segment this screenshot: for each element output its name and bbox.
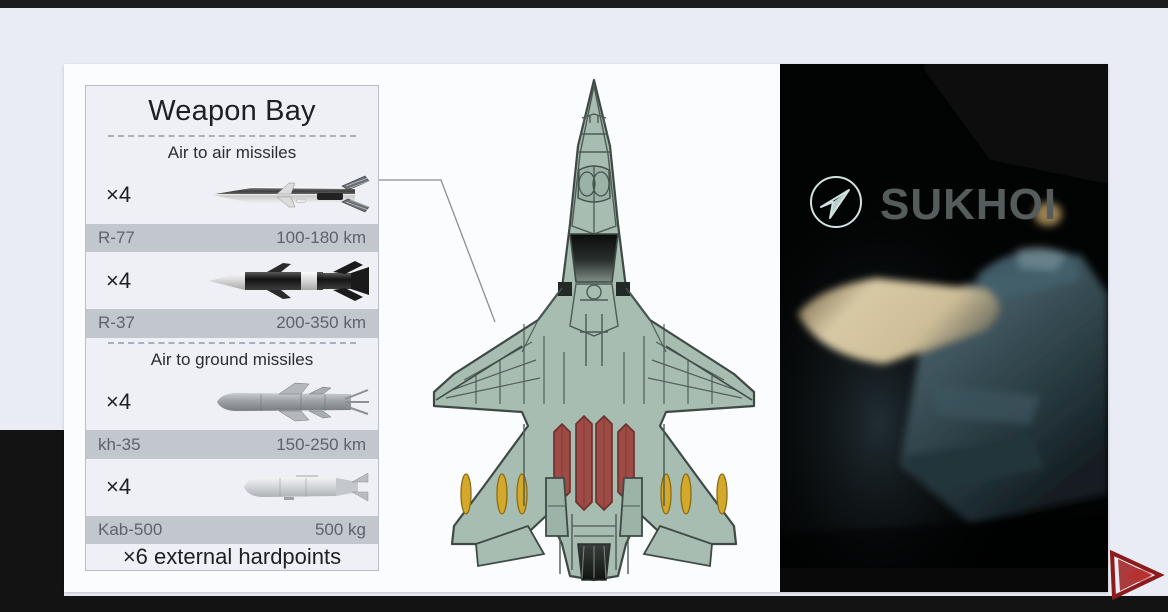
weapon-spec: 150-250 km bbox=[276, 435, 366, 455]
weapon-qty: ×4 bbox=[86, 474, 150, 500]
section-label-air-to-ground: Air to ground missiles bbox=[86, 348, 378, 374]
sukhoi-photo-panel: SUKHOI bbox=[780, 64, 1108, 592]
external-hardpoints-label: ×6 external hardpoints bbox=[86, 544, 378, 570]
bomb-kab500-icon bbox=[150, 459, 378, 516]
letterbox-top bbox=[0, 0, 1168, 8]
weapon-bay-panel: Weapon Bay Air to air missiles ×4 bbox=[85, 85, 379, 571]
red-delta-watermark-icon bbox=[1106, 545, 1166, 608]
su-57-model-photo bbox=[780, 64, 1108, 592]
missile-r37-icon bbox=[150, 252, 378, 309]
sukhoi-logo: SUKHOI bbox=[808, 174, 1057, 235]
weapon-spec: 100-180 km bbox=[276, 228, 366, 248]
sukhoi-brand-text: SUKHOI bbox=[880, 180, 1057, 230]
weapon-name: kh-35 bbox=[98, 435, 141, 455]
weapon-data-row-r77: R-77 100-180 km bbox=[86, 224, 378, 252]
letterbox-left-block bbox=[0, 430, 64, 612]
panel-title: Weapon Bay bbox=[86, 86, 378, 131]
weapon-row-r37[interactable]: ×4 bbox=[86, 252, 378, 309]
weapon-data-row-r37: R-37 200-350 km bbox=[86, 309, 378, 337]
divider-dashed-top bbox=[108, 135, 356, 137]
screenshot-stage: Weapon Bay Air to air missiles ×4 bbox=[0, 0, 1168, 612]
su-57-top-view-diagram bbox=[404, 74, 784, 584]
weapon-qty: ×4 bbox=[86, 182, 150, 208]
divider-dashed-mid bbox=[108, 342, 356, 344]
missile-r77-icon bbox=[150, 167, 378, 224]
weapon-qty: ×4 bbox=[86, 389, 150, 415]
section-label-air-to-air: Air to air missiles bbox=[86, 141, 378, 167]
weapon-data-row-kab500: Kab-500 500 kg bbox=[86, 516, 378, 544]
weapon-spec: 200-350 km bbox=[276, 313, 366, 333]
letterbox-bottom bbox=[0, 596, 1168, 612]
weapon-spec: 500 kg bbox=[315, 520, 366, 540]
weapon-row-kh35[interactable]: ×4 bbox=[86, 374, 378, 431]
weapon-name: R-37 bbox=[98, 313, 135, 333]
weapon-row-kab500[interactable]: ×4 bbox=[86, 459, 378, 516]
weapon-row-r77[interactable]: ×4 bbox=[86, 167, 378, 224]
weapon-name: R-77 bbox=[98, 228, 135, 248]
sukhoi-compass-arrow-icon bbox=[808, 174, 864, 235]
missile-kh35-icon bbox=[150, 374, 378, 431]
weapon-data-row-kh35: kh-35 150-250 km bbox=[86, 430, 378, 458]
weapon-name: Kab-500 bbox=[98, 520, 162, 540]
weapon-qty: ×4 bbox=[86, 268, 150, 294]
content-card: Weapon Bay Air to air missiles ×4 bbox=[64, 64, 1108, 592]
